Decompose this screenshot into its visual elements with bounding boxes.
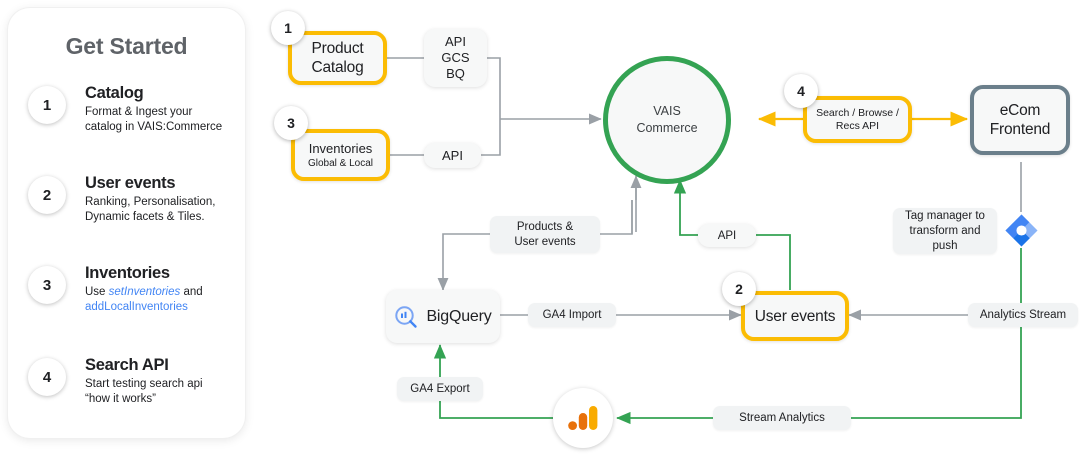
node-label: Analytics Stream: [980, 308, 1066, 323]
node-bigquery[interactable]: BigQuery: [386, 290, 500, 343]
node-api-gcs-bq: API GCS BQ: [424, 29, 487, 87]
diagram-badge-4: 4: [784, 74, 818, 108]
node-label: Stream Analytics: [739, 411, 825, 426]
node-label-line1: VAIS: [653, 103, 681, 120]
node-label-line1: Tag manager to: [905, 209, 985, 224]
node-label-line2: Global & Local: [308, 157, 373, 170]
node-label-line3: push: [933, 239, 958, 254]
node-label: API: [442, 148, 463, 164]
node-label: API: [718, 228, 737, 244]
node-label: BigQuery: [426, 307, 491, 326]
node-label: GA4 Import: [543, 308, 602, 323]
node-product-catalog[interactable]: Product Catalog: [288, 31, 387, 85]
node-label-line2: GCS: [441, 50, 469, 66]
node-api-events: API: [698, 224, 756, 247]
node-label-line2: Catalog: [311, 58, 363, 77]
node-products-user-events: Products & User events: [490, 216, 600, 253]
node-user-events[interactable]: User events: [741, 291, 849, 341]
node-inventories[interactable]: Inventories Global & Local: [291, 129, 390, 181]
node-ga4-import: GA4 Import: [528, 303, 616, 327]
node-label-line2: transform and: [910, 224, 981, 239]
node-label-line2: User events: [514, 235, 575, 250]
node-label-line1: Search / Browse /: [816, 107, 899, 120]
node-label-line2: Commerce: [636, 120, 697, 137]
node-stream-analytics: Stream Analytics: [713, 406, 851, 430]
diagram-page: Get Started 1 Catalog Format & Ingest yo…: [0, 0, 1082, 458]
node-ecom-frontend[interactable]: eCom Frontend: [970, 85, 1070, 155]
node-analytics-stream: Analytics Stream: [968, 303, 1078, 327]
node-label-line2: Recs API: [836, 120, 879, 133]
bigquery-icon: [394, 305, 418, 329]
node-label-line1: API: [445, 34, 466, 50]
diagram-badge-3: 3: [274, 106, 308, 140]
node-label-line2: Frontend: [990, 120, 1050, 139]
node-label-line1: eCom: [1000, 101, 1041, 120]
node-label-line3: BQ: [446, 66, 465, 82]
tag-manager-icon: [1004, 213, 1039, 248]
node-label-line1: Products &: [517, 220, 573, 235]
node-search-browse-recs-api[interactable]: Search / Browse / Recs API: [803, 96, 912, 143]
node-label: User events: [755, 307, 836, 326]
node-label-line1: Product: [311, 39, 363, 58]
node-ga4-export: GA4 Export: [397, 377, 483, 401]
google-analytics-icon: [553, 388, 613, 448]
diagram-badge-1: 1: [271, 11, 305, 45]
node-vais-commerce[interactable]: VAIS Commerce: [603, 56, 731, 184]
node-tag-manager-note: Tag manager to transform and push: [893, 208, 997, 254]
diagram-badge-2: 2: [722, 272, 756, 306]
node-label: GA4 Export: [410, 382, 469, 397]
node-api-inventories: API: [424, 143, 481, 168]
architecture-diagram: 1 Product Catalog 3 Inventories Global &…: [0, 0, 1082, 458]
node-label-line1: Inventories: [309, 141, 373, 157]
